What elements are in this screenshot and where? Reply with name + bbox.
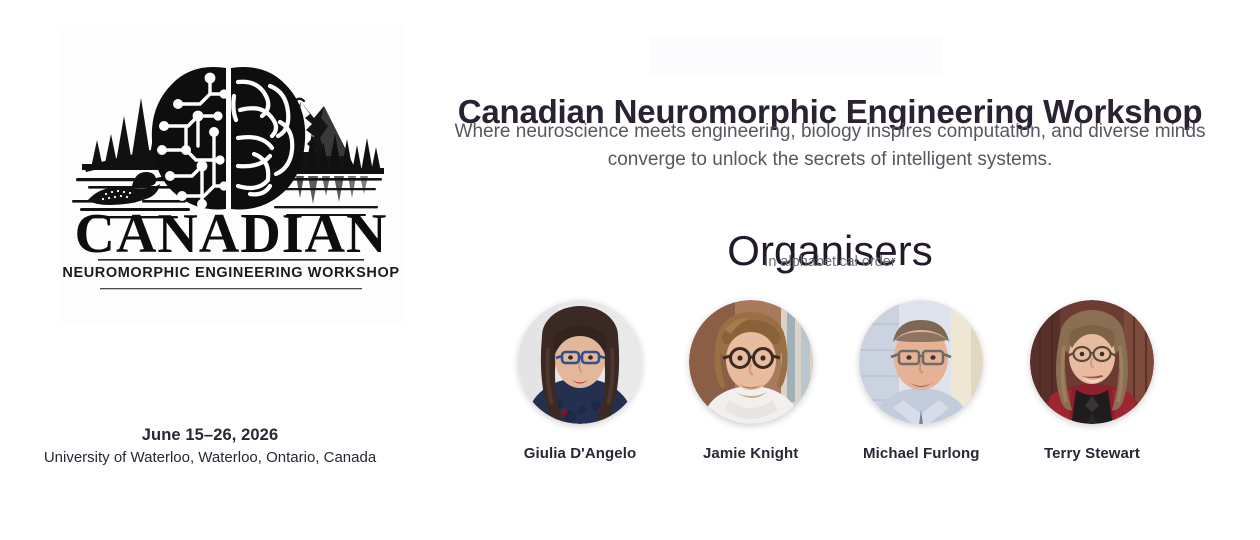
avatar-giulia-dangelo[interactable] <box>518 300 642 424</box>
logo-artwork: CANADIAN NEUROMORPHIC ENGINEERING WORKSH… <box>58 26 405 325</box>
tagline-line-2: converge to unlock the secrets of intell… <box>400 146 1260 174</box>
logo-rule-top <box>98 259 364 261</box>
logo-subwordmark: NEUROMORPHIC ENGINEERING WORKSHOP <box>62 265 399 281</box>
event-location: University of Waterloo, Waterloo, Ontari… <box>0 447 420 469</box>
organiser-card[interactable]: Michael Furlong <box>847 300 995 462</box>
organiser-name: Terry Stewart <box>1044 445 1140 462</box>
organiser-card[interactable]: Jamie Knight <box>677 300 825 462</box>
avatar-jamie-knight[interactable] <box>689 300 813 424</box>
organiser-card[interactable]: Giulia D'Angelo <box>506 300 654 462</box>
tagline-line-1: Where neuroscience meets engineering, bi… <box>400 118 1260 146</box>
organiser-name: Giulia D'Angelo <box>524 445 637 462</box>
workshop-logo: CANADIAN NEUROMORPHIC ENGINEERING WORKSH… <box>58 26 405 325</box>
avatar-photo <box>1030 300 1154 424</box>
organiser-card[interactable]: Terry Stewart <box>1018 300 1166 462</box>
logo-rule-bottom <box>100 288 362 289</box>
avatar-photo <box>518 300 642 424</box>
avatar-photo <box>859 300 983 424</box>
avatar-michael-furlong[interactable] <box>859 300 983 424</box>
event-details: June 15–26, 2026 University of Waterloo,… <box>0 424 420 469</box>
organiser-name: Michael Furlong <box>863 445 980 462</box>
avatar-terry-stewart[interactable] <box>1030 300 1154 424</box>
organisers-list: Giulia D'Angelo <box>506 300 1166 462</box>
left-column: CANADIAN NEUROMORPHIC ENGINEERING WORKSH… <box>0 0 420 540</box>
brain-central-fissure <box>227 66 232 212</box>
organisers-subheading: In alphabetical order <box>400 252 1260 272</box>
organiser-name: Jamie Knight <box>703 445 798 462</box>
event-date: June 15–26, 2026 <box>0 424 420 446</box>
right-column: Canadian Neuromorphic Engineering Worksh… <box>400 0 1260 540</box>
logo-wordmark: CANADIAN <box>75 203 388 265</box>
page-tagline: Where neuroscience meets engineering, bi… <box>400 118 1260 174</box>
workshop-landing-page: CANADIAN NEUROMORPHIC ENGINEERING WORKSH… <box>0 0 1260 540</box>
avatar-photo <box>689 300 813 424</box>
